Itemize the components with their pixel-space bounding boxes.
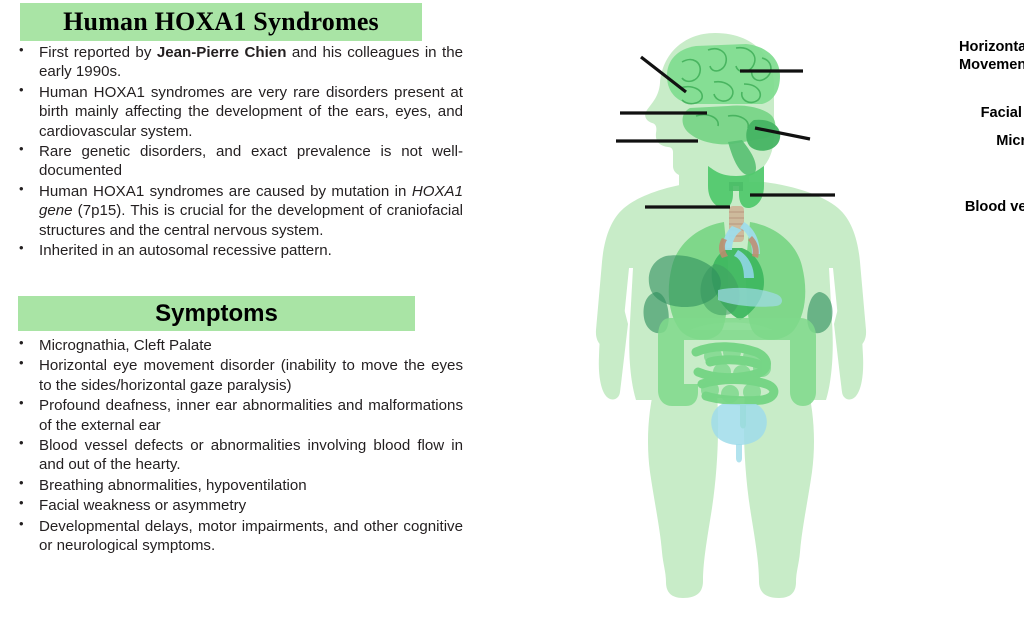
list-item: Horizontal eye movement disorder (inabil… (8, 356, 463, 395)
list-item-text: Breathing abnormalities, hypoventilation (39, 477, 307, 494)
list-item-text: Blood vessel defects or abnormalities in… (39, 437, 463, 473)
symptoms-title: Symptoms (155, 300, 278, 328)
list-item-text: Human HOXA1 syndromes are caused by muta… (39, 183, 412, 200)
list-item-text: Horizontal eye movement disorder (inabil… (39, 357, 463, 393)
list-item-text: Inherited in an autosomal recessive patt… (39, 242, 332, 259)
list-item: Facial weakness or asymmetry (8, 496, 463, 515)
list-item-text: Facial weakness or asymmetry (39, 497, 246, 514)
list-item: Breathing abnormalities, hypoventilation (8, 476, 463, 495)
list-item-text: Rare genetic disorders, and exact preval… (39, 143, 463, 179)
list-item: First reported by Jean-Pierre Chien and … (8, 43, 463, 82)
list-item-text: (7p15). This is crucial for the developm… (39, 202, 463, 238)
callout-horizontal-eye-movement: Horizontal eye Movement problem (959, 38, 1024, 74)
list-item: Rare genetic disorders, and exact preval… (8, 142, 463, 181)
list-item: Human HOXA1 syndromes are caused by muta… (8, 182, 463, 240)
list-item: Profound deafness, inner ear abnormaliti… (8, 396, 463, 435)
callout-facial-weakness: Facial weakness (965, 104, 1024, 122)
list-item-text: Jean-Pierre Chien (157, 44, 287, 61)
callout-blood-vessel-defects: Blood vessel defects (950, 198, 1024, 216)
facts-list: First reported by Jean-Pierre Chien and … (8, 43, 463, 261)
callout-micrognathia: Micrognathia (965, 132, 1024, 150)
information-panel: Human HOXA1 Syndromes First reported by … (0, 0, 470, 619)
list-item: Inherited in an autosomal recessive patt… (8, 241, 463, 260)
human-body-diagram (470, 0, 1024, 619)
list-item-text: Micrognathia, Cleft Palate (39, 337, 212, 354)
list-item-text: First reported by (39, 44, 157, 61)
list-item-text: Profound deafness, inner ear abnormaliti… (39, 397, 463, 433)
list-item: Blood vessel defects or abnormalities in… (8, 436, 463, 475)
list-item: Human HOXA1 syndromes are very rare diso… (8, 83, 463, 141)
list-item-text: Developmental delays, motor impairments,… (39, 518, 463, 554)
symptoms-list: Micrognathia, Cleft PalateHorizontal eye… (8, 336, 463, 556)
list-item-text: Human HOXA1 syndromes are very rare diso… (39, 84, 463, 140)
page-title: Human HOXA1 Syndromes (63, 7, 379, 37)
list-item: Micrognathia, Cleft Palate (8, 336, 463, 355)
symptoms-banner: Symptoms (18, 296, 415, 331)
list-item: Developmental delays, motor impairments,… (8, 517, 463, 556)
title-banner: Human HOXA1 Syndromes (20, 3, 422, 41)
anatomy-illustration-panel: Horizontal eye Movement problem Facial w… (470, 0, 1024, 619)
